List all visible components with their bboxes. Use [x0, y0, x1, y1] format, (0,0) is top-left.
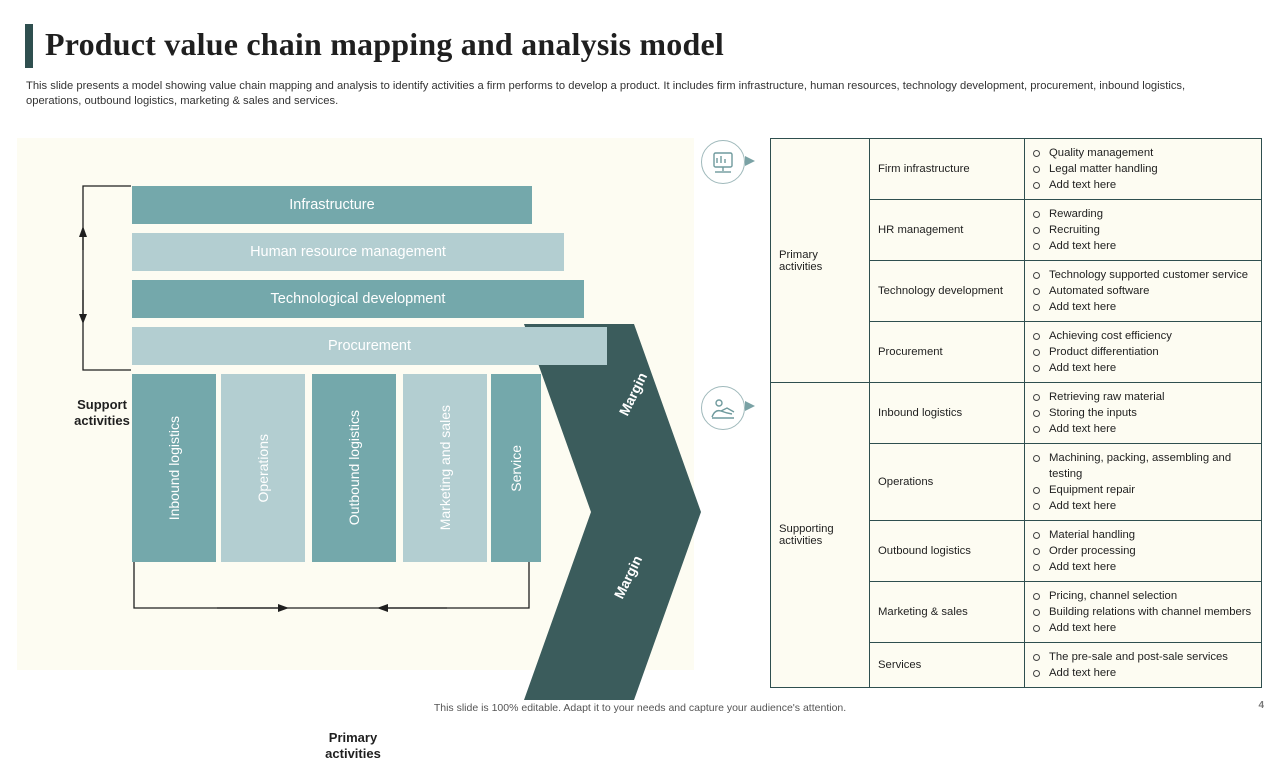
activity-name-outbound-logistics: Outbound logistics — [870, 521, 1025, 582]
connector-arrow-primary — [745, 155, 757, 167]
activity-name-inbound-logistics: Inbound logistics — [870, 383, 1025, 444]
value-chain-table-body: Primary activities Firm infrastructure Q… — [771, 139, 1262, 688]
list-item: Quality management — [1033, 145, 1253, 161]
activity-items-inbound-logistics: Retrieving raw material Storing the inpu… — [1025, 383, 1262, 444]
bullet-icon — [1033, 670, 1040, 677]
list-item: Add text here — [1033, 238, 1253, 254]
bullet-icon — [1033, 166, 1040, 173]
activity-items-firm-infrastructure: Quality management Legal matter handling… — [1025, 139, 1262, 200]
list-item: Add text here — [1033, 620, 1253, 636]
activity-name-services: Services — [870, 643, 1025, 688]
list-item: Building relations with channel members — [1033, 604, 1253, 620]
bullet-icon — [1033, 564, 1040, 571]
list-item: Product differentiation — [1033, 344, 1253, 360]
activity-items-services: The pre-sale and post-sale services Add … — [1025, 643, 1262, 688]
table-row[interactable]: Primary activities Firm infrastructure Q… — [771, 139, 1262, 200]
footer-note: This slide is 100% editable. Adapt it to… — [0, 702, 1280, 714]
bullet-icon — [1033, 503, 1040, 510]
list-item: Order processing — [1033, 543, 1253, 559]
bullet-icon — [1033, 593, 1040, 600]
list-item-text: Storing the inputs — [1049, 405, 1253, 421]
list-item-text: Quality management — [1049, 145, 1253, 161]
list-item: Machining, packing, assembling and testi… — [1033, 450, 1253, 482]
title-accent-bar — [25, 24, 33, 68]
list-item: Material handling — [1033, 527, 1253, 543]
activity-items-outbound-logistics: Material handling Order processing Add t… — [1025, 521, 1262, 582]
list-item: Retrieving raw material — [1033, 389, 1253, 405]
page-number: 4 — [1258, 700, 1264, 711]
list-item: Add text here — [1033, 498, 1253, 514]
list-item-text: Legal matter handling — [1049, 161, 1253, 177]
list-item: Achieving cost efficiency — [1033, 328, 1253, 344]
list-item-text: Product differentiation — [1049, 344, 1253, 360]
list-item-text: Add text here — [1049, 498, 1253, 514]
list-item-text: Pricing, channel selection — [1049, 588, 1253, 604]
activity-name-firm-infrastructure: Firm infrastructure — [870, 139, 1025, 200]
list-item-text: Add text here — [1049, 238, 1253, 254]
bullet-icon — [1033, 394, 1040, 401]
list-item: The pre-sale and post-sale services — [1033, 649, 1253, 665]
bullet-icon — [1033, 304, 1040, 311]
bullet-icon — [1033, 349, 1040, 356]
list-item-text: Add text here — [1049, 620, 1253, 636]
activity-items-operations: Machining, packing, assembling and testi… — [1025, 444, 1262, 521]
activity-items-marketing-and-sales: Pricing, channel selection Building rela… — [1025, 582, 1262, 643]
list-item-text: Machining, packing, assembling and testi… — [1049, 450, 1253, 482]
activity-name-procurement: Procurement — [870, 322, 1025, 383]
activity-items-hr-management: Rewarding Recruiting Add text here — [1025, 200, 1262, 261]
list-item-text: Add text here — [1049, 421, 1253, 437]
bullet-icon — [1033, 410, 1040, 417]
list-item: Technology supported customer service — [1033, 267, 1253, 283]
bullet-icon — [1033, 150, 1040, 157]
list-item-text: Add text here — [1049, 360, 1253, 376]
list-item-text: Rewarding — [1049, 206, 1253, 222]
list-item-text: Add text here — [1049, 559, 1253, 575]
bullet-icon — [1033, 625, 1040, 632]
activity-name-technology-development: Technology development — [870, 261, 1025, 322]
connector-arrow-supporting — [745, 400, 757, 412]
bullet-icon — [1033, 532, 1040, 539]
activity-items-technology-development: Technology supported customer service Au… — [1025, 261, 1262, 322]
list-item-text: Add text here — [1049, 665, 1253, 681]
activity-items-procurement: Achieving cost efficiency Product differ… — [1025, 322, 1262, 383]
list-item: Add text here — [1033, 177, 1253, 193]
group-label-primary: Primary activities — [771, 139, 870, 383]
bullet-icon — [1033, 182, 1040, 189]
bullet-icon — [1033, 288, 1040, 295]
page-title: Product value chain mapping and analysis… — [45, 26, 724, 63]
handshake-icon — [701, 386, 745, 430]
primary-activities-label: Primary activities — [307, 730, 399, 762]
list-item: Pricing, channel selection — [1033, 588, 1253, 604]
list-item-text: Recruiting — [1049, 222, 1253, 238]
bullet-icon — [1033, 609, 1040, 616]
bullet-icon — [1033, 455, 1040, 462]
list-item: Add text here — [1033, 299, 1253, 315]
list-item: Automated software — [1033, 283, 1253, 299]
list-item: Recruiting — [1033, 222, 1253, 238]
table-row[interactable]: Supporting activities Inbound logistics … — [771, 383, 1262, 444]
page-subtitle: This slide presents a model showing valu… — [26, 79, 1241, 108]
bullet-icon — [1033, 365, 1040, 372]
activity-name-hr-management: HR management — [870, 200, 1025, 261]
list-item: Legal matter handling — [1033, 161, 1253, 177]
bullet-icon — [1033, 243, 1040, 250]
list-item-text: Add text here — [1049, 299, 1253, 315]
list-item-text: Building relations with channel members — [1049, 604, 1253, 620]
bullet-icon — [1033, 333, 1040, 340]
group-label-supporting: Supporting activities — [771, 383, 870, 688]
list-item: Add text here — [1033, 421, 1253, 437]
list-item-text: Add text here — [1049, 177, 1253, 193]
list-item-text: Automated software — [1049, 283, 1253, 299]
value-chain-table: Primary activities Firm infrastructure Q… — [770, 138, 1262, 688]
list-item: Equipment repair — [1033, 482, 1253, 498]
list-item-text: Retrieving raw material — [1049, 389, 1253, 405]
activity-name-marketing-and-sales: Marketing & sales — [870, 582, 1025, 643]
list-item: Add text here — [1033, 360, 1253, 376]
bullet-icon — [1033, 654, 1040, 661]
presentation-chart-icon — [701, 140, 745, 184]
list-item-text: Achieving cost efficiency — [1049, 328, 1253, 344]
list-item-text: Order processing — [1049, 543, 1253, 559]
list-item: Rewarding — [1033, 206, 1253, 222]
list-item-text: Technology supported customer service — [1049, 267, 1253, 283]
list-item: Storing the inputs — [1033, 405, 1253, 421]
bullet-icon — [1033, 211, 1040, 218]
list-item-text: The pre-sale and post-sale services — [1049, 649, 1253, 665]
list-item-text: Equipment repair — [1049, 482, 1253, 498]
bullet-icon — [1033, 426, 1040, 433]
bullet-icon — [1033, 227, 1040, 234]
list-item: Add text here — [1033, 665, 1253, 681]
bullet-icon — [1033, 272, 1040, 279]
support-activities-label: Support activities — [63, 397, 141, 429]
bullet-icon — [1033, 548, 1040, 555]
activity-name-operations: Operations — [870, 444, 1025, 521]
value-chain-diagram-panel: Margin Margin Infrastructure Human resou… — [17, 138, 694, 670]
list-item-text: Material handling — [1049, 527, 1253, 543]
list-item: Add text here — [1033, 559, 1253, 575]
bullet-icon — [1033, 487, 1040, 494]
